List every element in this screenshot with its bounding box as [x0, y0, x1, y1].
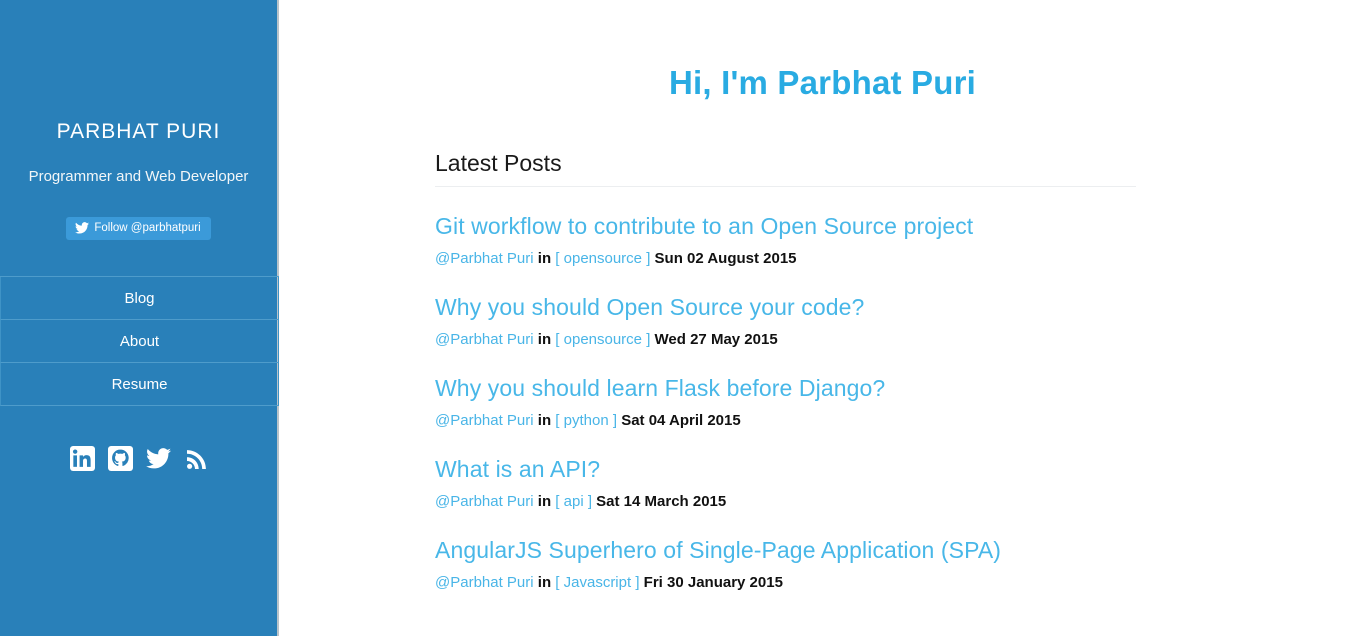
sidebar: PARBHAT PURI Programmer and Web Develope… — [0, 0, 279, 636]
post-title-link[interactable]: AngularJS Superhero of Single-Page Appli… — [435, 536, 1136, 564]
post-author-link[interactable]: @Parbhat Puri — [435, 574, 534, 591]
post-title-link[interactable]: Why you should learn Flask before Django… — [435, 374, 1136, 402]
post-date: Fri 30 January 2015 — [644, 574, 783, 591]
post-list-item: Git workflow to contribute to an Open So… — [435, 187, 1136, 268]
post-category-link[interactable]: [ python ] — [555, 412, 617, 429]
post-author-link[interactable]: @Parbhat Puri — [435, 412, 534, 429]
site-tagline: Programmer and Web Developer — [0, 146, 277, 187]
post-category-link[interactable]: [ Javascript ] — [555, 574, 639, 591]
sidebar-item-resume[interactable]: Resume — [0, 363, 279, 406]
post-meta-in: in — [538, 493, 551, 510]
post-list-item: Why you should Open Source your code? @P… — [435, 268, 1136, 349]
linkedin-link[interactable] — [69, 445, 96, 472]
sidebar-item-about[interactable]: About — [0, 320, 279, 363]
post-category-link[interactable]: [ opensource ] — [555, 331, 650, 348]
twitter-link[interactable] — [145, 445, 172, 472]
post-author-link[interactable]: @Parbhat Puri — [435, 493, 534, 510]
latest-posts-region: Latest Posts Git workflow to contribute … — [435, 148, 1136, 592]
post-meta-in: in — [538, 574, 551, 591]
twitter-icon — [146, 448, 171, 469]
post-meta: @Parbhat Puri in [ python ] Sat 04 April… — [435, 402, 1136, 430]
post-list-item: Why you should learn Flask before Django… — [435, 349, 1136, 430]
post-meta-in: in — [538, 412, 551, 429]
page-title: Hi, I'm Parbhat Puri — [279, 0, 1366, 103]
post-date: Sun 02 August 2015 — [655, 250, 797, 267]
post-list-item: AngularJS Superhero of Single-Page Appli… — [435, 511, 1136, 592]
sidebar-nav: Blog About Resume — [0, 276, 279, 406]
main-content: Hi, I'm Parbhat Puri Latest Posts Git wo… — [279, 0, 1366, 636]
post-date: Sat 14 March 2015 — [596, 493, 726, 510]
post-meta: @Parbhat Puri in [ opensource ] Sun 02 A… — [435, 240, 1136, 268]
github-link[interactable] — [107, 445, 134, 472]
post-author-link[interactable]: @Parbhat Puri — [435, 331, 534, 348]
post-category-link[interactable]: [ api ] — [555, 493, 592, 510]
twitter-icon — [75, 222, 89, 234]
follow-button-wrap: Follow @parbhatpuri — [0, 187, 277, 240]
post-date: Sat 04 April 2015 — [621, 412, 741, 429]
post-title-link[interactable]: Git workflow to contribute to an Open So… — [435, 212, 1136, 240]
post-meta-in: in — [538, 250, 551, 267]
post-meta-in: in — [538, 331, 551, 348]
brand-block: PARBHAT PURI Programmer and Web Develope… — [0, 0, 277, 240]
post-author-link[interactable]: @Parbhat Puri — [435, 250, 534, 267]
post-meta: @Parbhat Puri in [ api ] Sat 14 March 20… — [435, 483, 1136, 511]
post-meta: @Parbhat Puri in [ opensource ] Wed 27 M… — [435, 321, 1136, 349]
post-title-link[interactable]: Why you should Open Source your code? — [435, 293, 1136, 321]
rss-link[interactable] — [183, 445, 210, 472]
latest-posts-heading: Latest Posts — [435, 148, 1136, 186]
linkedin-icon — [70, 446, 95, 471]
post-date: Wed 27 May 2015 — [655, 331, 778, 348]
post-meta: @Parbhat Puri in [ Javascript ] Fri 30 J… — [435, 564, 1136, 592]
twitter-follow-button[interactable]: Follow @parbhatpuri — [66, 217, 210, 240]
post-title-link[interactable]: What is an API? — [435, 455, 1136, 483]
post-list-item: What is an API? @Parbhat Puri in [ api ]… — [435, 430, 1136, 511]
twitter-follow-label: Follow @parbhatpuri — [94, 222, 200, 234]
rss-icon — [185, 447, 209, 471]
post-category-link[interactable]: [ opensource ] — [555, 250, 650, 267]
site-name: PARBHAT PURI — [0, 118, 277, 146]
sidebar-item-blog[interactable]: Blog — [0, 277, 279, 320]
social-links — [0, 445, 279, 472]
github-icon — [108, 446, 133, 471]
